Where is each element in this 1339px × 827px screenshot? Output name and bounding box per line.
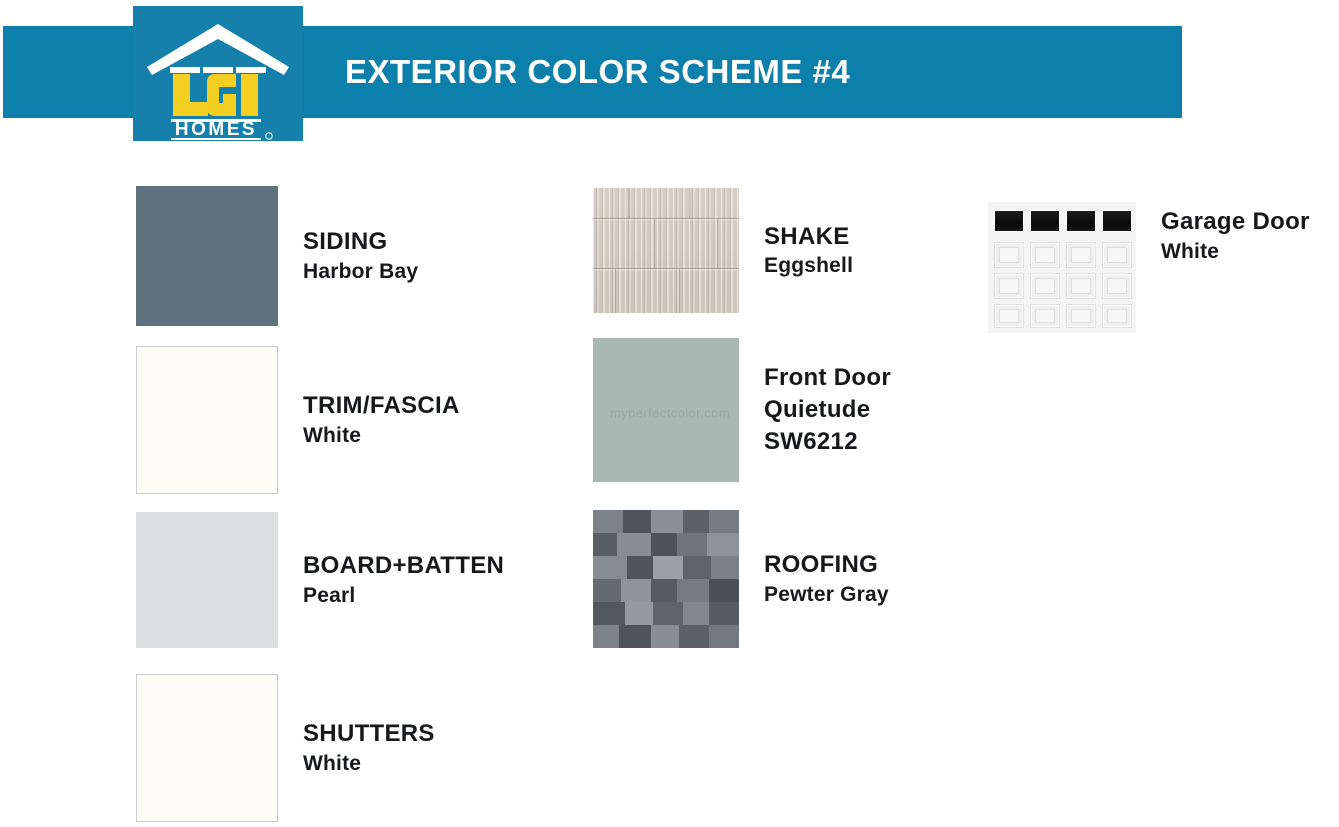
trim-fascia-labels: TRIM/FASCIA White xyxy=(303,390,460,449)
front-door-color-name: Quietude xyxy=(764,394,891,426)
swatch-entry-shutters: SHUTTERS White xyxy=(136,674,435,822)
shutters-color-name: White xyxy=(303,750,435,778)
trim-fascia-title: TRIM/FASCIA xyxy=(303,390,460,422)
page-header: EXTERIOR COLOR SCHEME #4 HOMES xyxy=(0,0,1339,150)
shake-title: SHAKE xyxy=(764,221,853,253)
siding-title: SIDING xyxy=(303,226,418,258)
garage-door-labels: Garage Door White xyxy=(1161,206,1310,265)
swatch-entry-board-batten: BOARD+BATTEN Pearl xyxy=(136,512,504,648)
swatch-entry-shake: SHAKE Eggshell xyxy=(593,188,853,313)
garage-door-color-name: White xyxy=(1161,238,1310,266)
garage-door-title: Garage Door xyxy=(1161,206,1310,238)
page-title: EXTERIOR COLOR SCHEME #4 xyxy=(345,26,850,118)
swatch-entry-siding: SIDING Harbor Bay xyxy=(136,186,418,326)
lgi-homes-logo: HOMES xyxy=(133,6,303,141)
swatch-entry-roofing: ROOFING Pewter Gray xyxy=(593,510,889,648)
board-batten-title: BOARD+BATTEN xyxy=(303,550,504,582)
front-door-swatch: myperfectcolor.com xyxy=(593,338,739,482)
swatch-entry-front-door: myperfectcolor.com Front Door Quietude S… xyxy=(593,338,891,482)
siding-labels: SIDING Harbor Bay xyxy=(303,226,418,285)
shake-swatch xyxy=(593,188,739,313)
shake-labels: SHAKE Eggshell xyxy=(764,221,853,280)
lgi-homes-logo-icon: HOMES xyxy=(133,6,303,141)
front-door-watermark: myperfectcolor.com xyxy=(597,405,739,420)
roofing-title: ROOFING xyxy=(764,549,889,581)
color-scheme-grid: SIDING Harbor Bay TRIM/FASCIA White BOAR… xyxy=(0,150,1339,827)
swatch-entry-garage-door: Garage Door White xyxy=(988,202,1310,333)
shutters-labels: SHUTTERS White xyxy=(303,718,435,777)
board-batten-color-name: Pearl xyxy=(303,582,504,610)
board-batten-swatch xyxy=(136,512,278,648)
shake-color-name: Eggshell xyxy=(764,252,853,280)
garage-door-swatch xyxy=(988,202,1136,333)
roofing-swatch xyxy=(593,510,739,648)
front-door-color-code: SW6212 xyxy=(764,426,891,458)
trim-fascia-swatch xyxy=(136,346,278,494)
shutters-swatch xyxy=(136,674,278,822)
front-door-labels: Front Door Quietude SW6212 xyxy=(764,362,891,457)
swatch-entry-trim-fascia: TRIM/FASCIA White xyxy=(136,346,460,494)
roofing-color-name: Pewter Gray xyxy=(764,581,889,609)
siding-color-name: Harbor Bay xyxy=(303,258,418,286)
svg-text:HOMES: HOMES xyxy=(175,119,257,140)
board-batten-labels: BOARD+BATTEN Pearl xyxy=(303,550,504,609)
front-door-title: Front Door xyxy=(764,362,891,394)
trim-fascia-color-name: White xyxy=(303,422,460,450)
roofing-labels: ROOFING Pewter Gray xyxy=(764,549,889,608)
siding-swatch xyxy=(136,186,278,326)
shutters-title: SHUTTERS xyxy=(303,718,435,750)
